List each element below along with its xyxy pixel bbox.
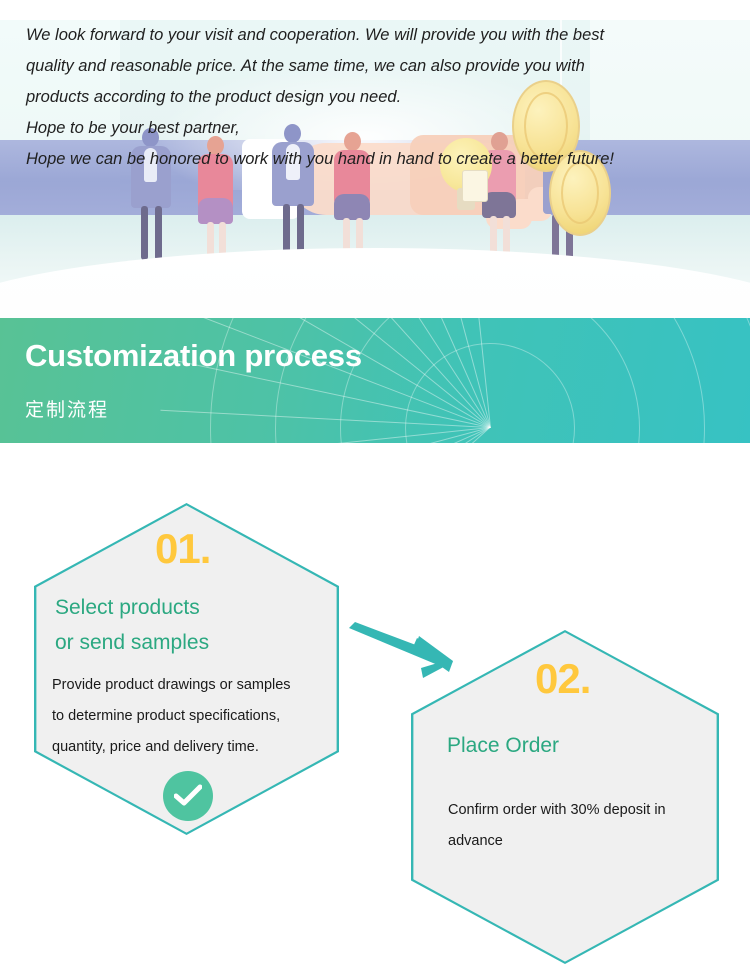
banner-title: Customization process	[25, 338, 362, 374]
step-body-02-line1: Confirm order with 30% deposit in	[448, 795, 738, 826]
section-banner	[0, 318, 750, 443]
check-mark-badge	[163, 771, 213, 821]
step-heading-02: Place Order	[447, 728, 559, 763]
step-number-02: 02.	[535, 655, 590, 703]
step-number-01: 01.	[155, 525, 210, 573]
hero-line-5: Hope we can be honored to work with you …	[26, 144, 724, 175]
step-heading-01-line1: Select products	[55, 590, 209, 625]
banner-subtitle: 定制流程	[25, 395, 109, 422]
double-chevron-right-arrow-icon	[349, 622, 469, 684]
step-body-01-line1: Provide product drawings or samples	[52, 670, 342, 701]
step-heading-01-line2: or send samples	[55, 625, 209, 660]
hero-line-4: Hope to be your best partner,	[26, 113, 724, 144]
step-body-01: Provide product drawings or samples to d…	[52, 670, 342, 763]
step-heading-01: Select products or send samples	[55, 590, 209, 660]
step-body-01-line3: quantity, price and delivery time.	[52, 732, 342, 763]
hero-paragraph: We look forward to your visit and cooper…	[0, 20, 750, 190]
hero-line-3: products according to the product design…	[26, 82, 724, 113]
connector-arrow	[349, 622, 469, 684]
check-icon	[174, 784, 202, 808]
step-heading-02-line1: Place Order	[447, 728, 559, 763]
arc-pattern-decoration	[190, 318, 750, 443]
step-body-01-line2: to determine product specifications,	[52, 701, 342, 732]
step-body-02: Confirm order with 30% deposit in advanc…	[448, 795, 738, 857]
step-body-02-line2: advance	[448, 826, 738, 857]
hero-line-2: quality and reasonable price. At the sam…	[26, 51, 724, 82]
hero-line-1: We look forward to your visit and cooper…	[26, 20, 724, 51]
